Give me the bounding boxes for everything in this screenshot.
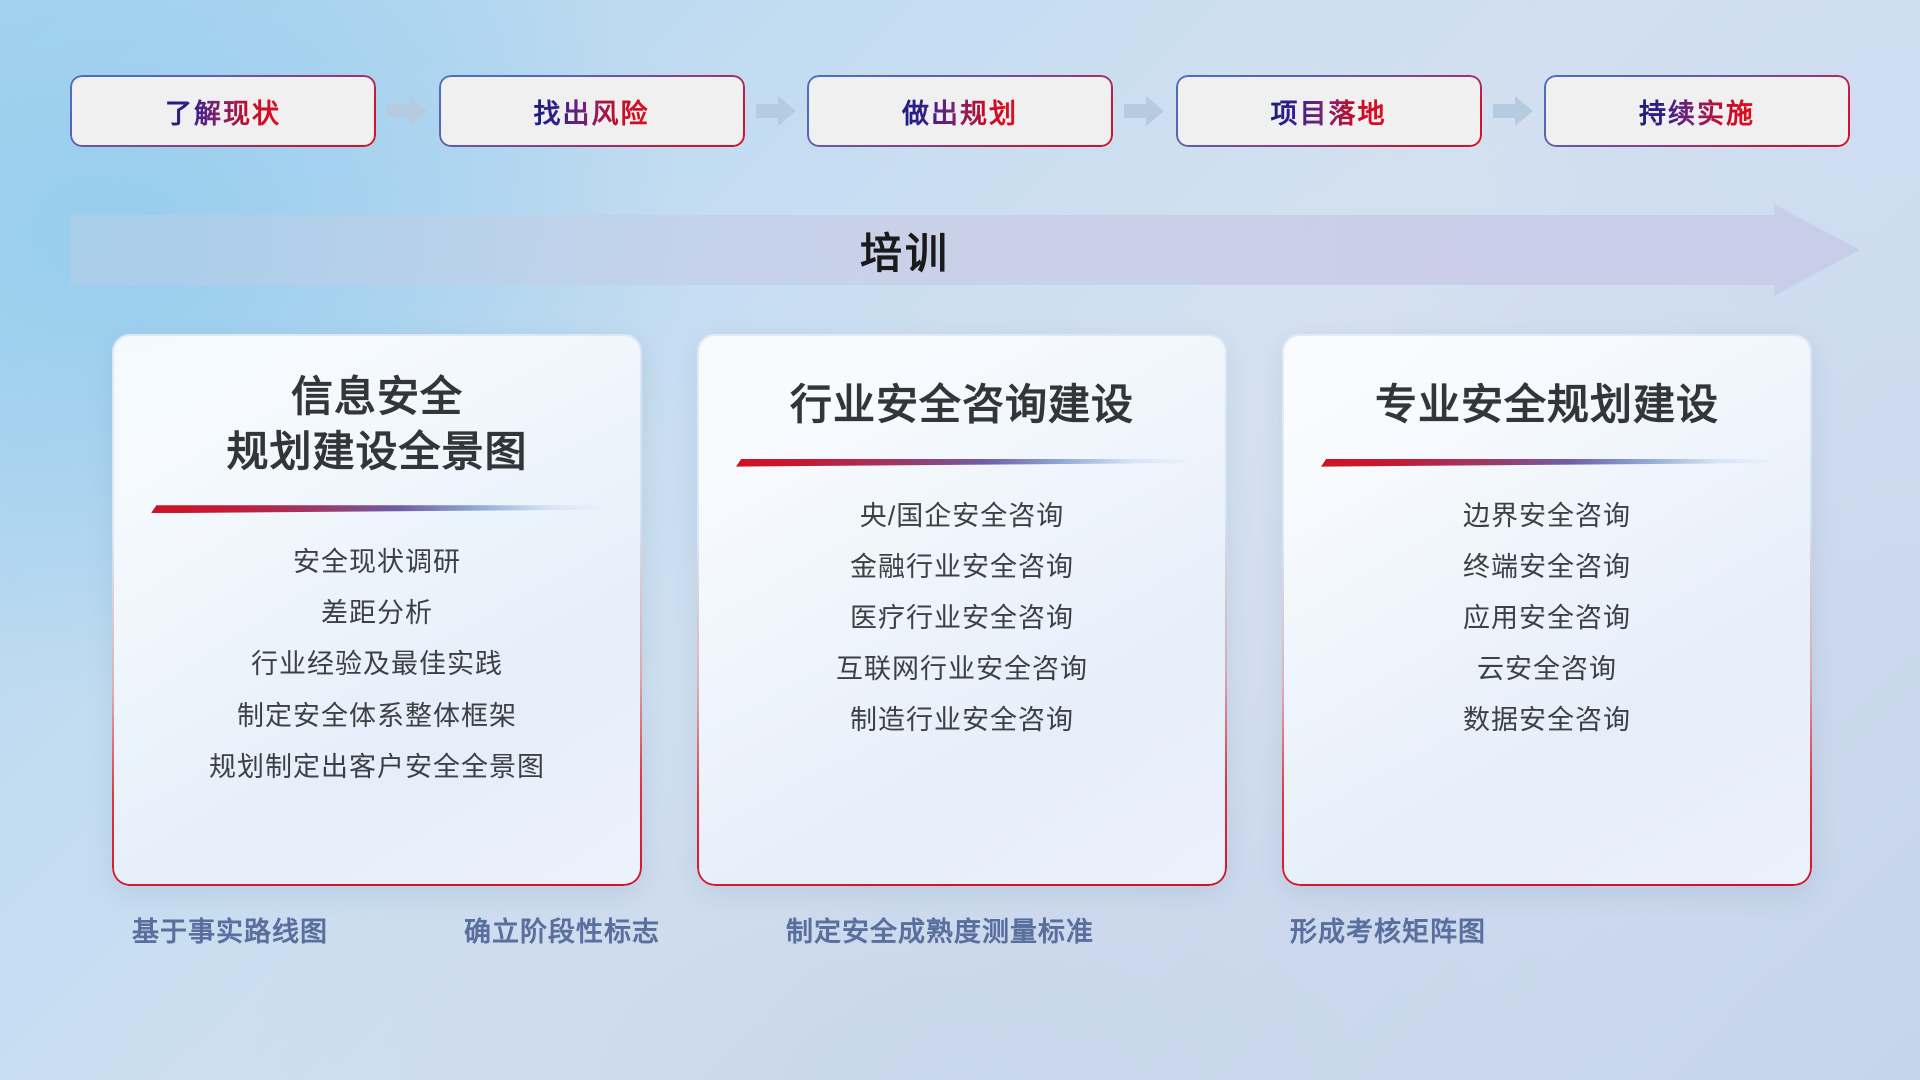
caption-row: 基于事实路线图 确立阶段性标志 制定安全成熟度测量标准 形成考核矩阵图 [0, 910, 1920, 960]
card-2[interactable]: 行业安全咨询建设 央/国企安全咨询 金融行业安全咨询 医疗行业安全咨询 互联网行… [697, 334, 1227, 886]
banner-arrow: 培训 [70, 204, 1860, 296]
list-item: 制定安全体系整体框架 [237, 697, 517, 736]
list-item: 安全现状调研 [293, 543, 461, 582]
list-item: 数据安全咨询 [1463, 701, 1631, 740]
caption-1: 基于事实路线图 [132, 910, 328, 949]
slide-canvas: 了解现状 找出风险 做出规划 项目落地 [0, 0, 1920, 1080]
card-title-line: 行业安全咨询建设 [790, 378, 1134, 433]
card-divider [1321, 459, 1773, 467]
arrow-right-icon [1124, 94, 1164, 128]
list-item: 互联网行业安全咨询 [836, 650, 1088, 689]
card-title-line: 专业安全规划建设 [1375, 378, 1719, 433]
card-list: 边界安全咨询 终端安全咨询 应用安全咨询 云安全咨询 数据安全咨询 [1463, 497, 1631, 741]
banner-title: 培训 [70, 204, 1860, 296]
step-pill-3[interactable]: 做出规划 [807, 75, 1113, 147]
list-item: 终端安全咨询 [1463, 548, 1631, 587]
list-item: 云安全咨询 [1477, 650, 1617, 689]
card-list: 安全现状调研 差距分析 行业经验及最佳实践 制定安全体系整体框架 规划制定出客户… [209, 543, 545, 787]
card-divider [151, 505, 603, 513]
step-pill-label: 了解现状 [165, 92, 281, 131]
card-title: 行业安全咨询建设 [790, 378, 1134, 433]
list-item: 行业经验及最佳实践 [251, 645, 503, 684]
card-3[interactable]: 专业安全规划建设 边界安全咨询 终端安全咨询 应用安全咨询 云安全咨询 数据安全… [1282, 334, 1812, 886]
card-group: 信息安全 规划建设全景图 安全现状调研 差距分析 行业经验及最佳实践 制定安全体… [112, 334, 1812, 886]
list-item: 医疗行业安全咨询 [850, 599, 1074, 638]
arrow-right-icon [387, 94, 427, 128]
process-step-bar: 了解现状 找出风险 做出规划 项目落地 [70, 74, 1850, 148]
step-pill-label: 项目落地 [1271, 92, 1387, 131]
list-item: 制造行业安全咨询 [850, 701, 1074, 740]
list-item: 金融行业安全咨询 [850, 548, 1074, 587]
card-divider [736, 459, 1188, 467]
card-title: 专业安全规划建设 [1375, 378, 1719, 433]
step-pill-1[interactable]: 了解现状 [70, 75, 376, 147]
step-pill-label: 找出风险 [534, 92, 650, 131]
arrow-right-icon [756, 94, 796, 128]
arrow-right-icon [1493, 94, 1533, 128]
step-pill-label: 做出规划 [902, 92, 1018, 131]
step-pill-5[interactable]: 持续实施 [1544, 75, 1850, 147]
card-1[interactable]: 信息安全 规划建设全景图 安全现状调研 差距分析 行业经验及最佳实践 制定安全体… [112, 334, 642, 886]
list-item: 边界安全咨询 [1463, 497, 1631, 536]
caption-2: 确立阶段性标志 [464, 910, 660, 949]
caption-3: 制定安全成熟度测量标准 [786, 910, 1094, 949]
card-title-line: 信息安全 [226, 370, 527, 425]
card-list: 央/国企安全咨询 金融行业安全咨询 医疗行业安全咨询 互联网行业安全咨询 制造行… [836, 497, 1088, 741]
list-item: 规划制定出客户安全全景图 [209, 748, 545, 787]
list-item: 央/国企安全咨询 [860, 497, 1065, 536]
list-item: 应用安全咨询 [1463, 599, 1631, 638]
list-item: 差距分析 [321, 594, 433, 633]
caption-4: 形成考核矩阵图 [1290, 910, 1486, 949]
card-title: 信息安全 规划建设全景图 [226, 370, 527, 479]
step-pill-4[interactable]: 项目落地 [1176, 75, 1482, 147]
card-title-line: 规划建设全景图 [226, 425, 527, 480]
step-pill-2[interactable]: 找出风险 [439, 75, 745, 147]
step-pill-label: 持续实施 [1639, 92, 1755, 131]
